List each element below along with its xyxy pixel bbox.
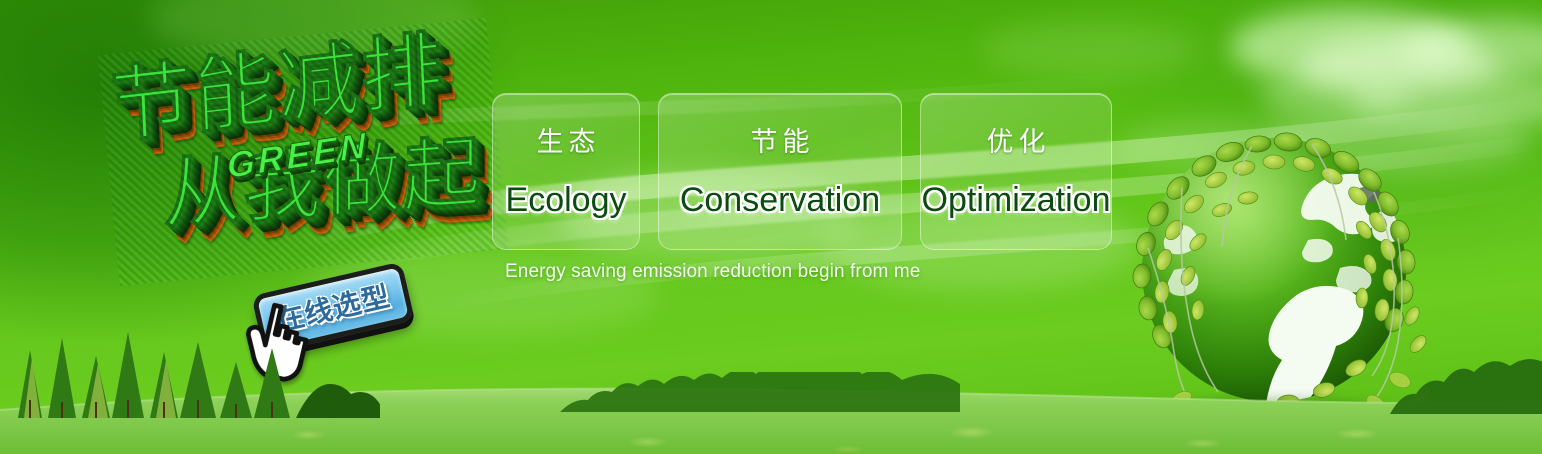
- feature-card-title-cn: 节能: [746, 120, 815, 159]
- pointing-hand-cursor-icon: [232, 293, 325, 392]
- feature-card-title-en: Ecology: [506, 181, 627, 220]
- headline-3d: 节能减排 从我做起 GREEN: [98, 18, 508, 286]
- headline-line-1: 节能减排: [109, 27, 447, 151]
- banner-subtitle: Energy saving emission reduction begin f…: [505, 261, 920, 283]
- cloud-icon: [1400, 18, 1542, 78]
- distant-treeline-icon: [560, 372, 960, 412]
- feature-card-title-cn: 生态: [532, 120, 601, 159]
- cloud-icon: [1260, 72, 1410, 122]
- feature-card-optimization[interactable]: 优化 Optimization: [920, 93, 1112, 250]
- conifer-treeline-icon: [0, 328, 380, 418]
- feature-card-title-en: Conservation: [680, 181, 880, 220]
- feature-card-list: 生态 Ecology 节能 Conservation 优化 Optimizati…: [492, 93, 1112, 250]
- feature-card-conservation[interactable]: 节能 Conservation: [658, 93, 902, 250]
- feature-card-ecology[interactable]: 生态 Ecology: [492, 93, 640, 250]
- leafy-earth-globe-icon: [1112, 118, 1432, 430]
- cloud-icon: [980, 20, 1200, 78]
- cloud-icon: [1230, 8, 1470, 86]
- feature-card-title-en: Optimization: [922, 181, 1111, 220]
- globe-drop-shadow: [1126, 394, 1416, 428]
- feature-card-title-cn: 优化: [982, 120, 1051, 159]
- cloud-icon: [1300, 34, 1500, 96]
- eco-promo-banner: 节能减排 从我做起 GREEN 在线选型 生态 Ecology 节能 Conse…: [0, 0, 1542, 454]
